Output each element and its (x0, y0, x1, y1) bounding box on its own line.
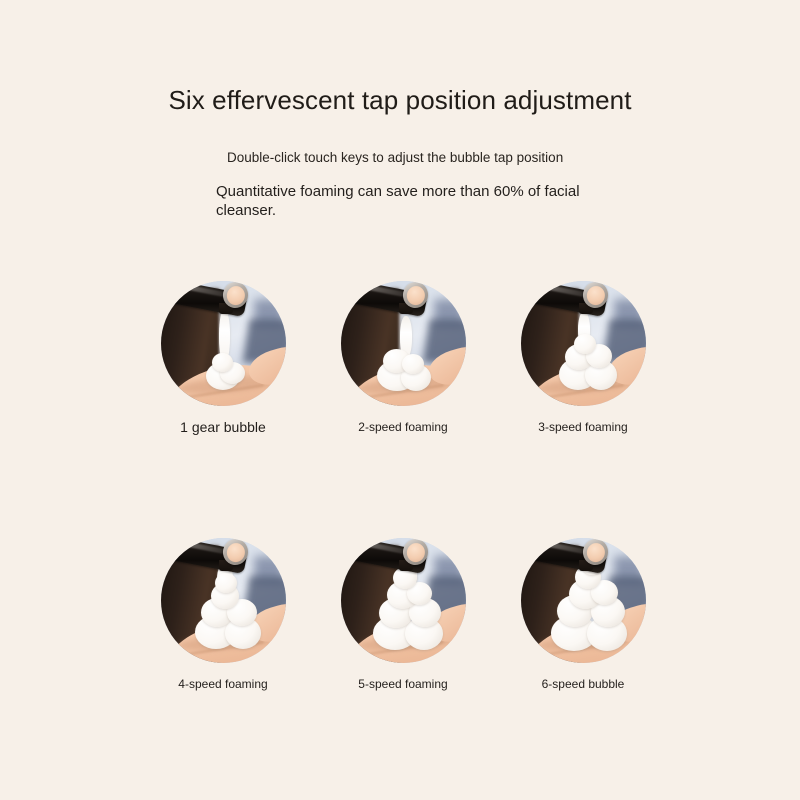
foam-photo-speed-6[interactable] (521, 538, 646, 663)
subtitle-line-1: Double-click touch keys to adjust the bu… (227, 150, 636, 165)
gallery-item-caption: 4-speed foaming (178, 677, 267, 691)
gallery-item-caption: 5-speed foaming (358, 677, 447, 691)
foam-photo-speed-3[interactable] (521, 281, 646, 406)
foam-photo-speed-1[interactable] (161, 281, 286, 406)
foam-photo-speed-4[interactable] (161, 538, 286, 663)
gallery-item-caption: 2-speed foaming (358, 420, 447, 434)
foam-photo-speed-2[interactable] (341, 281, 466, 406)
nozzle-face (584, 541, 606, 563)
gallery-item-speed-6[interactable]: 6-speed bubble (518, 538, 648, 691)
nozzle-face (224, 541, 246, 563)
gallery-item-speed-3[interactable]: 3-speed foaming (518, 281, 648, 435)
nozzle-face (584, 284, 606, 306)
foam-photo-speed-5[interactable] (341, 538, 466, 663)
gallery-item-speed-5[interactable]: 5-speed foaming (338, 538, 468, 691)
gallery-row-2: 4-speed foaming (158, 538, 648, 691)
subtitle-block: Double-click touch keys to adjust the bu… (216, 150, 636, 220)
subtitle-line-2: Quantitative foaming can save more than … (216, 182, 594, 220)
gallery-row-1: 1 gear bubble (158, 281, 648, 435)
gallery-item-speed-2[interactable]: 2-speed foaming (338, 281, 468, 435)
gallery-item-speed-4[interactable]: 4-speed foaming (158, 538, 288, 691)
gallery-item-caption: 6-speed bubble (542, 677, 625, 691)
gallery-item-caption: 1 gear bubble (180, 419, 266, 435)
nozzle-face (224, 284, 246, 306)
gallery-item-caption: 3-speed foaming (538, 420, 627, 434)
gallery-item-speed-1[interactable]: 1 gear bubble (158, 281, 288, 435)
foam-level-gallery: 1 gear bubble (158, 281, 648, 691)
page-title: Six effervescent tap position adjustment (0, 85, 800, 116)
nozzle-face (404, 284, 426, 306)
nozzle-face (404, 541, 426, 563)
